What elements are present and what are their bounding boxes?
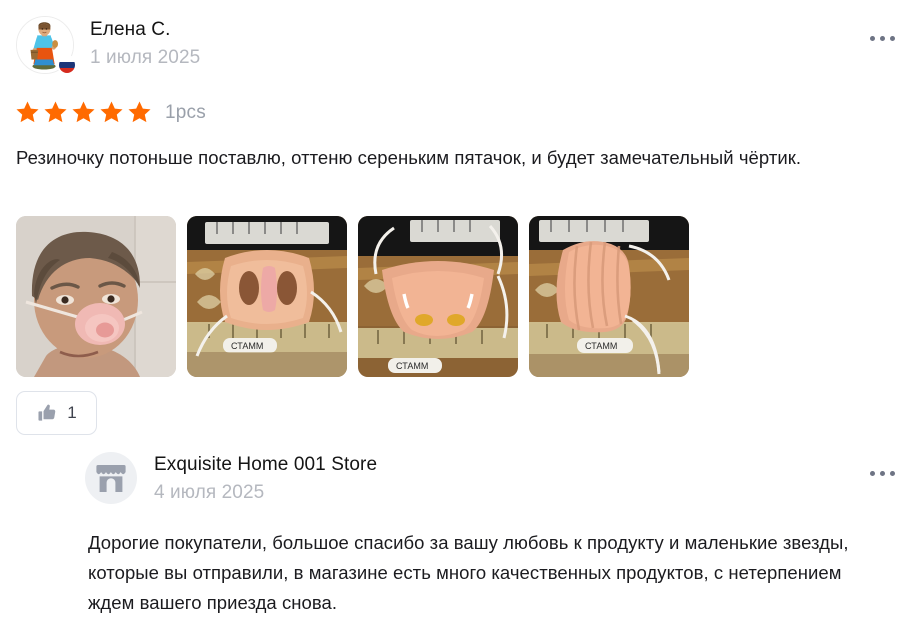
store-identity: Exquisite Home 001 Store 4 июля 2025	[154, 452, 377, 506]
photo-pig-nose-side: СТАММ	[529, 216, 689, 377]
svg-text:СТАММ: СТАММ	[231, 341, 263, 351]
review-photo-thumbnail[interactable]: СТАММ	[187, 216, 347, 377]
star-rating	[14, 99, 153, 126]
review-photo-thumbnail[interactable]: СТАММ	[529, 216, 689, 377]
reviewer-identity: Елена С. 1 июля 2025	[90, 16, 200, 71]
review-date: 1 июля 2025	[90, 45, 200, 71]
like-button[interactable]: 1	[16, 391, 97, 435]
rating-row: 1pcs	[14, 99, 206, 126]
star-icon	[14, 99, 41, 126]
more-options-icon[interactable]	[870, 36, 895, 41]
store-name: Exquisite Home 001 Store	[154, 452, 377, 477]
photo-woman-with-pig-nose	[16, 216, 176, 377]
review-header: Елена С. 1 июля 2025	[16, 16, 200, 74]
review-card: Елена С. 1 июля 2025 1pcs Резиночку пото…	[0, 0, 920, 639]
photo-pig-nose-inside: СТАММ	[358, 216, 518, 377]
more-options-icon[interactable]	[870, 471, 895, 476]
review-photo-thumbnail[interactable]: СТАММ	[358, 216, 518, 377]
star-icon	[42, 99, 69, 126]
store-reply-text: Дорогие покупатели, большое спасибо за в…	[88, 528, 878, 618]
review-photo-thumbnail[interactable]	[16, 216, 176, 377]
review-body-text: Резиночку потоньше поставлю, оттеню сере…	[16, 143, 846, 172]
svg-text:СТАММ: СТАММ	[396, 361, 428, 371]
quantity-label: 1pcs	[165, 102, 206, 124]
store-avatar[interactable]	[85, 452, 137, 504]
store-reply-header: Exquisite Home 001 Store 4 июля 2025	[85, 452, 377, 506]
photo-pig-nose-front: СТАММ	[187, 216, 347, 377]
storefront-icon	[95, 463, 127, 493]
reviewer-name: Елена С.	[90, 17, 200, 42]
russia-flag-icon	[57, 55, 77, 75]
thumbs-up-icon	[36, 402, 58, 424]
like-count: 1	[67, 403, 76, 423]
star-icon	[126, 99, 153, 126]
star-icon	[70, 99, 97, 126]
svg-text:СТАММ: СТАММ	[585, 341, 617, 351]
star-icon	[98, 99, 125, 126]
reply-date: 4 июля 2025	[154, 480, 377, 506]
review-photo-strip: СТАММ	[16, 216, 689, 377]
avatar[interactable]	[16, 16, 74, 74]
